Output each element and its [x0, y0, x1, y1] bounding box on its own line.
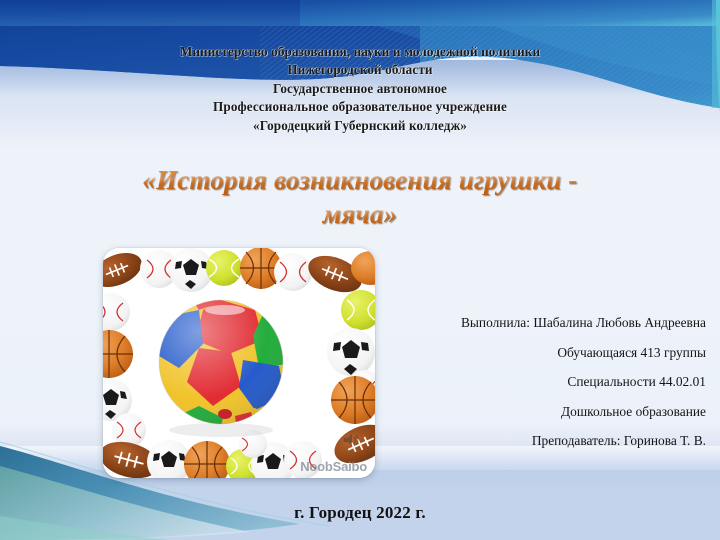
- author-line-5: Преподаватель: Горинова Т. В.: [386, 426, 706, 456]
- ball-image: NoobSaibo: [103, 248, 375, 478]
- header-line-4: Профессиональное образовательное учрежде…: [60, 98, 660, 116]
- slide-footer: г. Городец 2022 г.: [0, 503, 720, 523]
- slide-title: «История возникновения игрушки - мяча»: [45, 163, 675, 231]
- author-line-2: Обучающаяся 413 группы: [386, 338, 706, 368]
- image-watermark: NoobSaibo: [300, 459, 367, 474]
- header-line-2: Нижегородской области: [60, 61, 660, 79]
- author-line-3: Специальности 44.02.01: [386, 367, 706, 397]
- header-line-3: Государственное автономное: [60, 80, 660, 98]
- header-line-5: «Городецкий Губернский колледж»: [60, 117, 660, 135]
- ball-image-graphic: [103, 248, 375, 478]
- author-info: Выполнила: Шабалина Любовь Андреевна Обу…: [386, 308, 706, 456]
- footer-location-year: г. Городец 2022 г.: [294, 503, 426, 522]
- author-line-1: Выполнила: Шабалина Любовь Андреевна: [386, 308, 706, 338]
- header-line-1: Министерство образования, науки и молоде…: [60, 43, 660, 61]
- slide-title-line-1: «История возникновения игрушки -: [45, 163, 675, 197]
- institution-header: Министерство образования, науки и молоде…: [60, 43, 660, 135]
- speaker-icon: [343, 432, 361, 448]
- slide-title-line-2: мяча»: [45, 197, 675, 231]
- author-line-4: Дошкольное образование: [386, 397, 706, 427]
- presentation-slide: Министерство образования, науки и молоде…: [0, 0, 720, 540]
